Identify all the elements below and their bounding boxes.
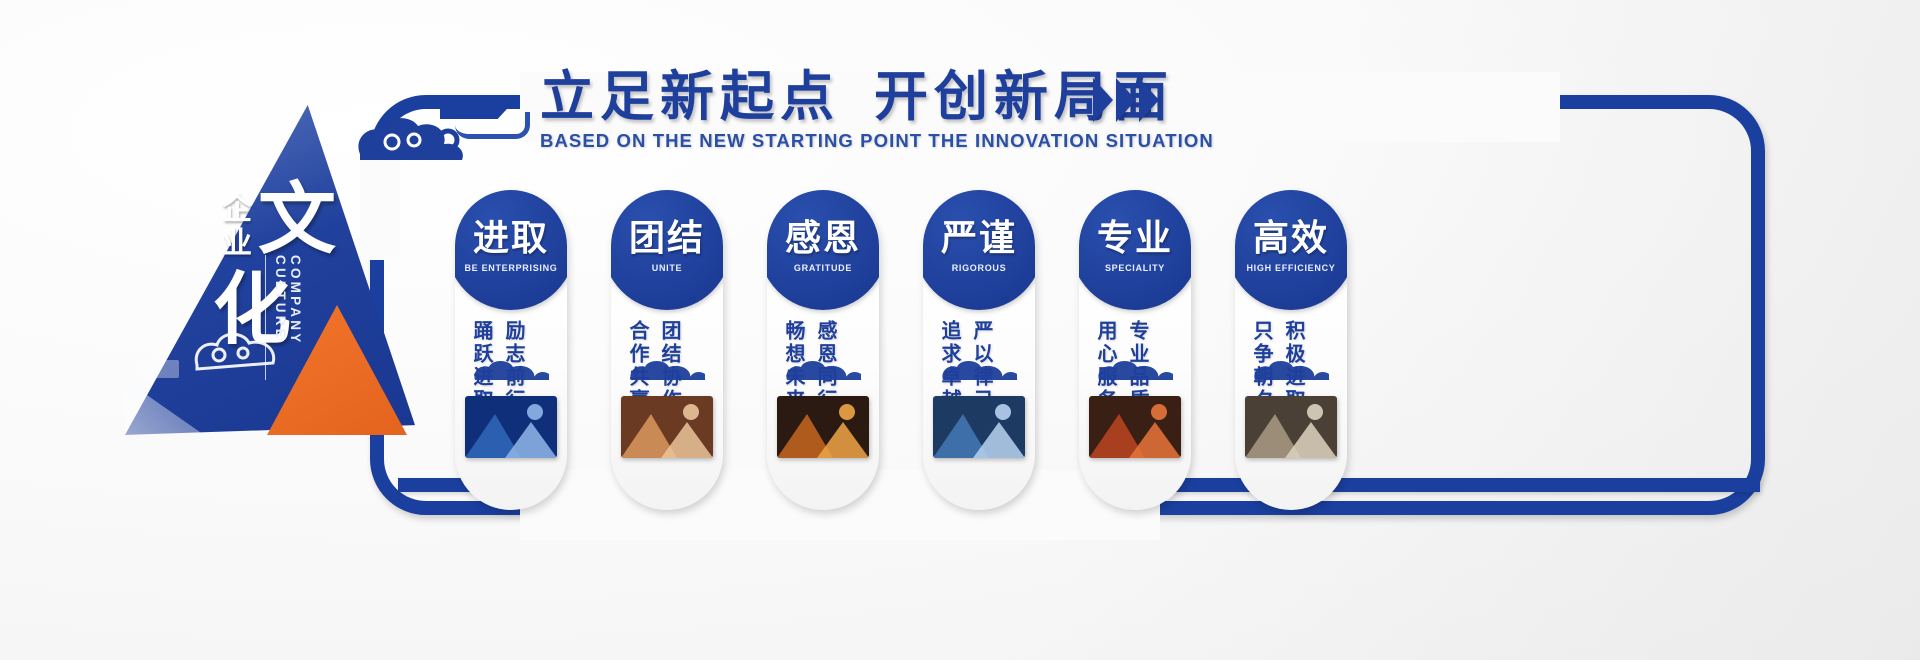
chevron-arrows-icon <box>1093 78 1159 122</box>
logo-small-chinese: 企业 <box>220 193 254 261</box>
value-pill-4[interactable]: 严谨RIGOROUS严以律己追求卓越 <box>923 190 1035 510</box>
value-pill-5[interactable]: 专业SPECIALITY专业品质用心服务 <box>1079 190 1191 510</box>
value-title-english: SPECIALITY <box>1105 263 1165 273</box>
value-badge-circle: 严谨RIGOROUS <box>923 190 1035 310</box>
value-title-english: RIGOROUS <box>952 263 1007 273</box>
pill-cloud-ornament-icon <box>473 358 551 384</box>
value-title-english: GRATITUDE <box>794 263 852 273</box>
value-badge-circle: 感恩GRATITUDE <box>767 190 879 310</box>
value-title-english: BE ENTERPRISING <box>464 263 557 273</box>
value-title-chinese: 专业 <box>1097 219 1173 259</box>
pill-cloud-ornament-icon <box>785 358 863 384</box>
value-title-english: HIGH EFFICIENCY <box>1246 263 1335 273</box>
value-title-chinese: 感恩 <box>785 219 861 259</box>
value-photo-photo-runner-track <box>1089 396 1181 458</box>
pill-cloud-ornament-icon <box>629 358 707 384</box>
value-pill-1[interactable]: 进取BE ENTERPRISING励志前行踊跃进取 <box>455 190 567 510</box>
value-photo-photo-eagle <box>933 396 1025 458</box>
headline-english: BASED ON THE NEW STARTING POINT THE INNO… <box>540 130 1240 152</box>
value-title-english: UNITE <box>652 263 683 273</box>
logo-cloud-ornament-icon <box>193 323 285 375</box>
pill-cloud-ornament-icon <box>941 358 1019 384</box>
value-title-chinese: 团结 <box>629 219 705 259</box>
decorative-frame-border <box>370 95 1765 515</box>
value-pill-2[interactable]: 团结UNITE团结协作合作共赢 <box>611 190 723 510</box>
value-pill-3[interactable]: 感恩GRATITUDE感恩同行畅想未来 <box>767 190 879 510</box>
pill-cloud-ornament-icon <box>1097 358 1175 384</box>
value-badge-circle: 高效HIGH EFFICIENCY <box>1235 190 1347 310</box>
value-badge-circle: 进取BE ENTERPRISING <box>455 190 567 310</box>
logo-big-char-wen: 文 <box>258 183 336 257</box>
logo-corner-stamp <box>137 360 179 378</box>
value-title-chinese: 严谨 <box>941 219 1017 259</box>
value-title-chinese: 进取 <box>473 219 549 259</box>
value-pill-6[interactable]: 高效HIGH EFFICIENCY积极进取只争朝夕 <box>1235 190 1347 510</box>
value-photo-photo-handshake <box>621 396 713 458</box>
value-photo-photo-stopwatch <box>1245 396 1337 458</box>
value-photo-photo-climbing <box>465 396 557 458</box>
pill-cloud-ornament-icon <box>1253 358 1331 384</box>
value-badge-circle: 专业SPECIALITY <box>1079 190 1191 310</box>
value-title-chinese: 高效 <box>1253 219 1329 259</box>
headline-cn-left: 立足新起点 <box>540 65 840 128</box>
value-badge-circle: 团结UNITE <box>611 190 723 310</box>
value-photo-photo-sunset-hands <box>777 396 869 458</box>
